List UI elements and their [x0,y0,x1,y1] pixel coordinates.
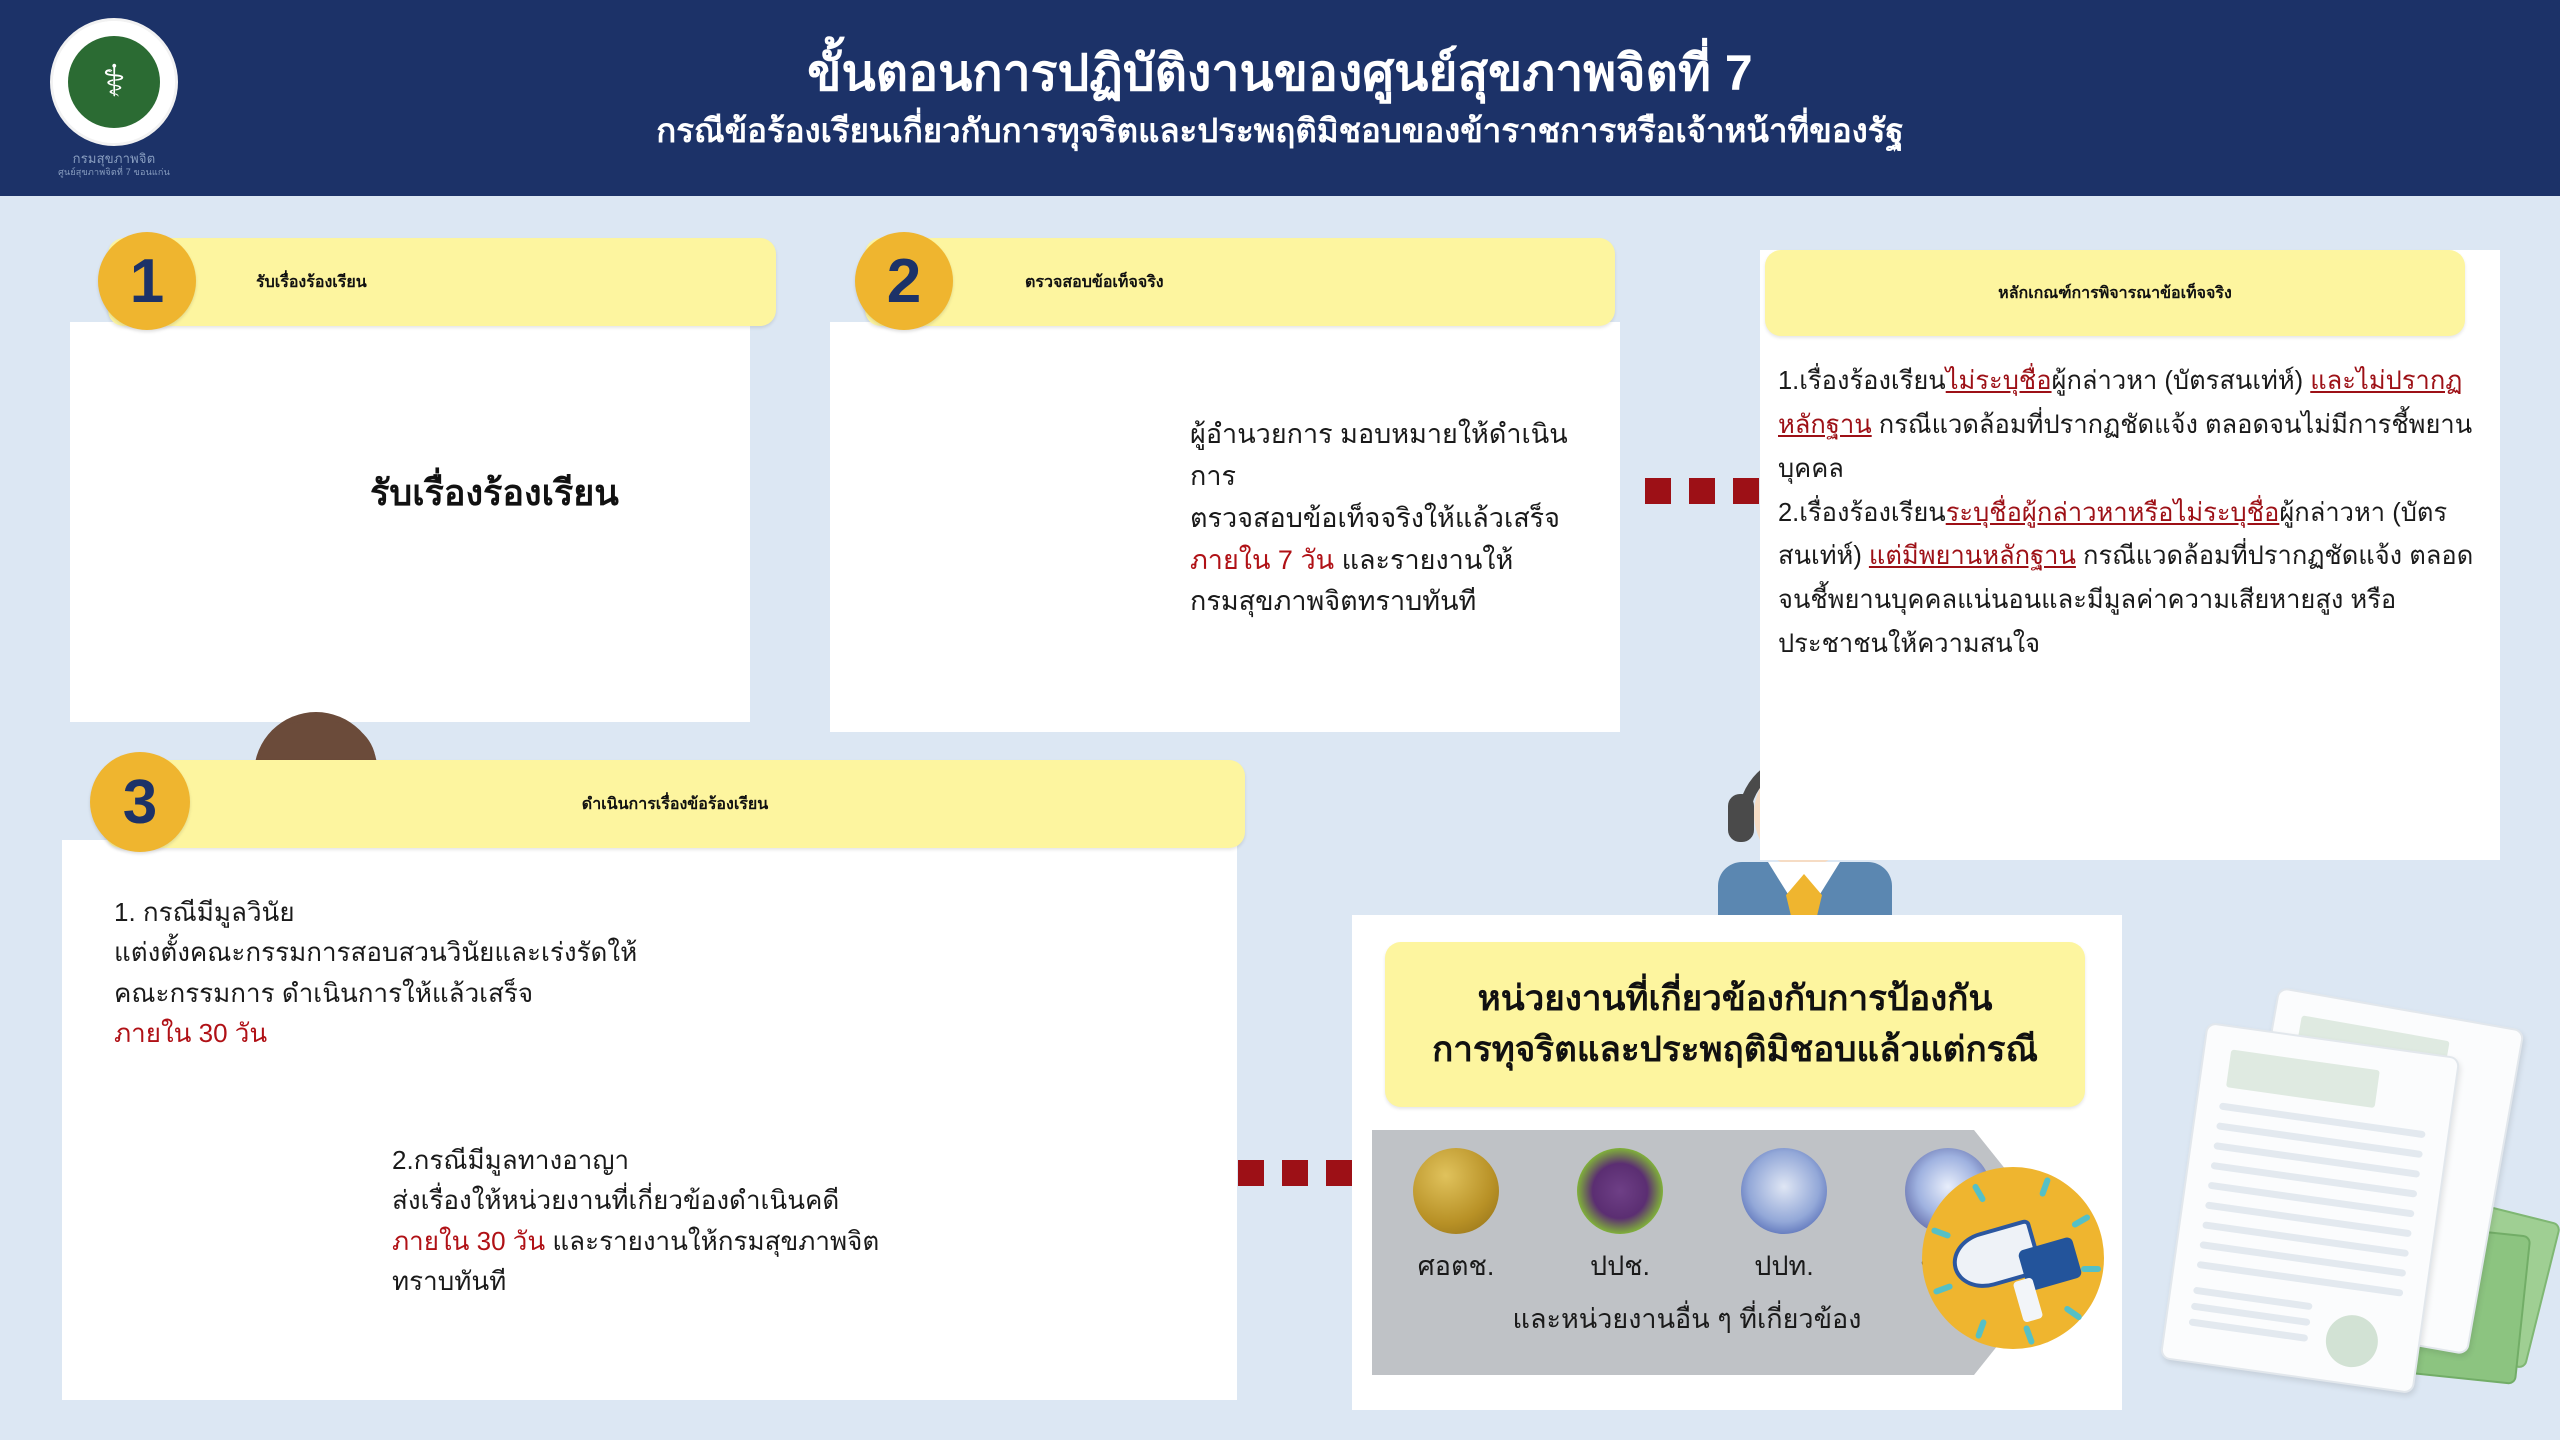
agency-item: ปปช. [1556,1148,1684,1287]
step-2-line-1: ผู้อำนวยการ มอบหมายให้ดำเนินการ [1190,414,1610,498]
agency-emblem-icon [1413,1148,1499,1234]
step-2-number-badge: 2 [855,232,953,330]
step-3-card: 1. กรณีมีมูลวินัย แต่งตั้งคณะกรรมการสอบส… [62,840,1237,1400]
step-2-line-3: ภายใน 7 วัน และรายงานให้ [1190,540,1610,582]
criteria-1-part-b: ผู้กล่าวหา (บัตรสนเท่ห์) [2052,367,2311,395]
agencies-heading-line-2: การทุจริตและประพฤติมิชอบแล้วแต่กรณี [1432,1025,2038,1076]
step-3-case-1: 1. กรณีมีมูลวินัย แต่งตั้งคณะกรรมการสอบส… [114,892,754,1053]
step-1-heading: รับเรื่องร้องเรียน [256,270,367,295]
criteria-header: หลักเกณฑ์การพิจารณาข้อเท็จจริง [1765,250,2465,336]
header-titles: ขั้นตอนการปฏิบัติงานของศูนย์สุขภาพจิตที่… [480,45,2080,150]
step-3-case-2: 2.กรณีมีมูลทางอาญา ส่งเรื่องให้หน่วยงานท… [392,1140,1112,1301]
dash-segment [1282,1160,1308,1186]
agency-label: ศอตช. [1392,1244,1520,1287]
step-3-case-1-line-2: คณะกรรมการ ดำเนินการให้แล้วเสร็จ [114,973,754,1013]
step-2-line-3-rest: และรายงานให้ [1334,545,1513,575]
step-1-label: รับเรื่องร้องเรียน [370,464,619,521]
dash-segment [1238,1160,1264,1186]
agency-label: ปปช. [1556,1244,1684,1287]
dash-segment [1326,1160,1352,1186]
step-3-number-badge: 3 [90,752,190,852]
agencies-header: หน่วยงานที่เกี่ยวข้องกับการป้องกัน การทุ… [1385,942,2085,1107]
ministry-logo: ⚕ กรมสุขภาพจิต ศูนย์สุขภาพจิตที่ 7 ขอนแก… [34,8,194,188]
step-1-header: รับเรื่องร้องเรียน [108,238,776,326]
page-subtitle: กรณีข้อร้องเรียนเกี่ยวกับการทุจริตและประ… [480,111,2080,151]
step-3-case-2-line-3: ทราบทันที [392,1261,1112,1301]
step-2-number: 2 [887,246,921,317]
page-header: ⚕ กรมสุขภาพจิต ศูนย์สุขภาพจิตที่ 7 ขอนแก… [0,0,2560,196]
dash-segment [1689,478,1715,504]
dash-segment [1645,478,1671,504]
criteria-item-2: 2.เรื่องร้องเรียนระบุชื่อผู้กล่าวหาหรือไ… [1778,492,2484,667]
criteria-heading: หลักเกณฑ์การพิจารณาข้อเท็จจริง [1998,281,2232,306]
ministry-of-public-health-emblem-icon: ⚕ [50,18,178,146]
document-sheet-front [2160,1022,2461,1394]
agency-label: ปปท. [1720,1244,1848,1287]
step-1-number-badge: 1 [98,232,196,330]
step-3-case-2-line-2: ภายใน 30 วัน และรายงานให้กรมสุขภาพจิต [392,1221,1112,1261]
infographic-page: ⚕ กรมสุขภาพจิต ศูนย์สุขภาพจิตที่ 7 ขอนแก… [0,0,2560,1440]
step-2-deadline: ภายใน 7 วัน [1190,545,1334,575]
step-3-header: ดำเนินการเรื่องข้อร้องเรียน [105,760,1245,848]
step-3-case-2-deadline: ภายใน 30 วัน [392,1226,545,1256]
dash-segment [1733,478,1759,504]
criteria-1-part-c: กรณีแวดล้อมที่ปรากฏชัดแจ้ง ตลอดจนไม่มีกา… [1778,411,2472,483]
step-3-heading: ดำเนินการเรื่องข้อร้องเรียน [582,792,768,817]
megaphone-icon [1922,1167,2104,1349]
step-3-case-1-title: 1. กรณีมีมูลวินัย [114,892,754,932]
step-3-case-2-title: 2.กรณีมีมูลทางอาญา [392,1140,1112,1180]
step-2-heading: ตรวจสอบข้อเท็จจริง [1025,270,1164,295]
step-2-card: ผู้อำนวยการ มอบหมายให้ดำเนินการ ตรวจสอบข… [830,322,1620,732]
step-2-line-2: ตรวจสอบข้อเท็จจริงให้แล้วเสร็จ [1190,498,1610,540]
criteria-panel: 1.เรื่องร้องเรียนไม่ระบุชื่อผู้กล่าวหา (… [1760,250,2500,860]
criteria-1-highlight-1: ไม่ระบุชื่อ [1946,367,2052,395]
agency-item: ปปท. [1720,1148,1848,1287]
criteria-2-highlight-1: ระบุชื่อผู้กล่าวหาหรือไม่ระบุชื่อ [1946,499,2280,527]
criteria-item-1: 1.เรื่องร้องเรียนไม่ระบุชื่อผู้กล่าวหา (… [1778,360,2484,492]
step-3-case-1-line-1: แต่งตั้งคณะกรรมการสอบสวนวินัยและเร่งรัดใ… [114,932,754,972]
criteria-2-highlight-2: แต่มีพยานหลักฐาน [1869,542,2076,570]
page-title: ขั้นตอนการปฏิบัติงานของศูนย์สุขภาพจิตที่… [480,45,2080,103]
logo-caption-main: กรมสุขภาพจิต [58,151,170,167]
agency-emblem-icon [1577,1148,1663,1234]
logo-caption-sub: ศูนย์สุขภาพจิตที่ 7 ขอนแก่น [58,167,170,178]
agencies-heading-line-1: หน่วยงานที่เกี่ยวข้องกับการป้องกัน [1478,974,1993,1025]
step-1-card: รับเรื่องร้องเรียน [70,322,750,722]
step-3-case-2-line-2-rest: และรายงานให้กรมสุขภาพจิต [545,1226,879,1256]
criteria-body: 1.เรื่องร้องเรียนไม่ระบุชื่อผู้กล่าวหา (… [1778,360,2484,667]
step-3-number: 3 [123,767,157,838]
criteria-1-part-a: 1.เรื่องร้องเรียน [1778,367,1946,395]
agency-emblem-icon [1741,1148,1827,1234]
criteria-2-part-a: 2.เรื่องร้องเรียน [1778,499,1946,527]
step-3-case-2-line-1: ส่งเรื่องให้หน่วยงานที่เกี่ยวข้องดำเนินค… [392,1180,1112,1220]
step-3-case-1-deadline: ภายใน 30 วัน [114,1013,754,1053]
emblem-ring [53,21,175,143]
step-2-header: ตรวจสอบข้อเท็จจริง [865,238,1615,326]
step-2-body: ผู้อำนวยการ มอบหมายให้ดำเนินการ ตรวจสอบข… [1190,414,1610,623]
step-1-number: 1 [130,246,164,317]
logo-caption: กรมสุขภาพจิต ศูนย์สุขภาพจิตที่ 7 ขอนแก่น [58,151,170,179]
document-and-money-icon [2130,990,2550,1420]
agency-item: ศอตช. [1392,1148,1520,1287]
step-2-line-4: กรมสุขภาพจิตทราบทันที [1190,581,1610,623]
